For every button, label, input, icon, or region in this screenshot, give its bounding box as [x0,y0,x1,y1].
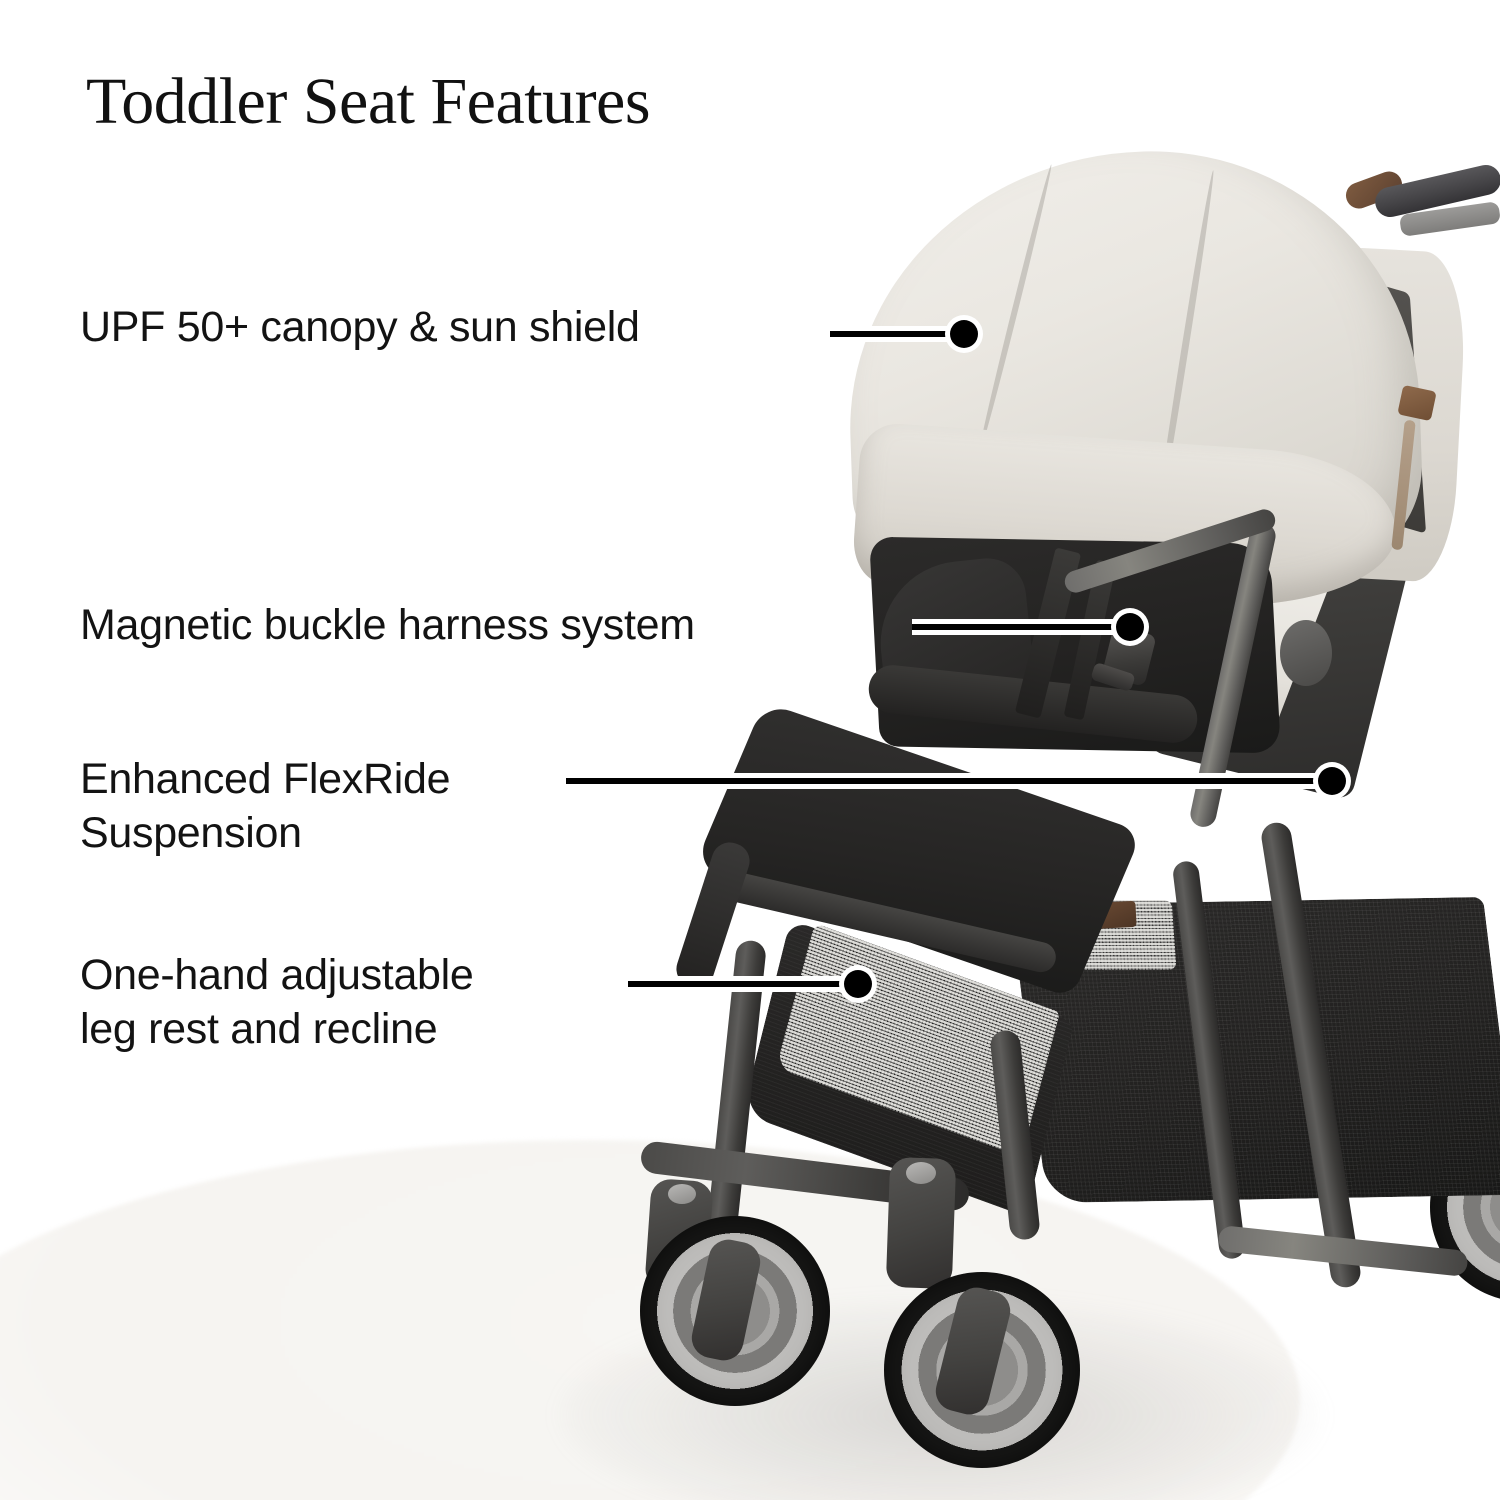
feature-label-suspension: Enhanced FlexRide Suspension [80,752,450,860]
page-title: Toddler Seat Features [86,64,650,140]
front-wheel-release-left [668,1184,696,1204]
feature-label-harness: Magnetic buckle harness system [80,598,695,652]
product-feature-diagram: Toddler Seat Features UPF 50+ canopy & s… [0,0,1500,1500]
seat-recline-hub [1280,620,1332,686]
feature-label-legrest: One-hand adjustable leg rest and recline [80,948,474,1056]
feature-label-canopy: UPF 50+ canopy & sun shield [80,300,640,354]
front-wheel-release-right [906,1162,936,1184]
stroller-illustration [0,0,1500,1500]
